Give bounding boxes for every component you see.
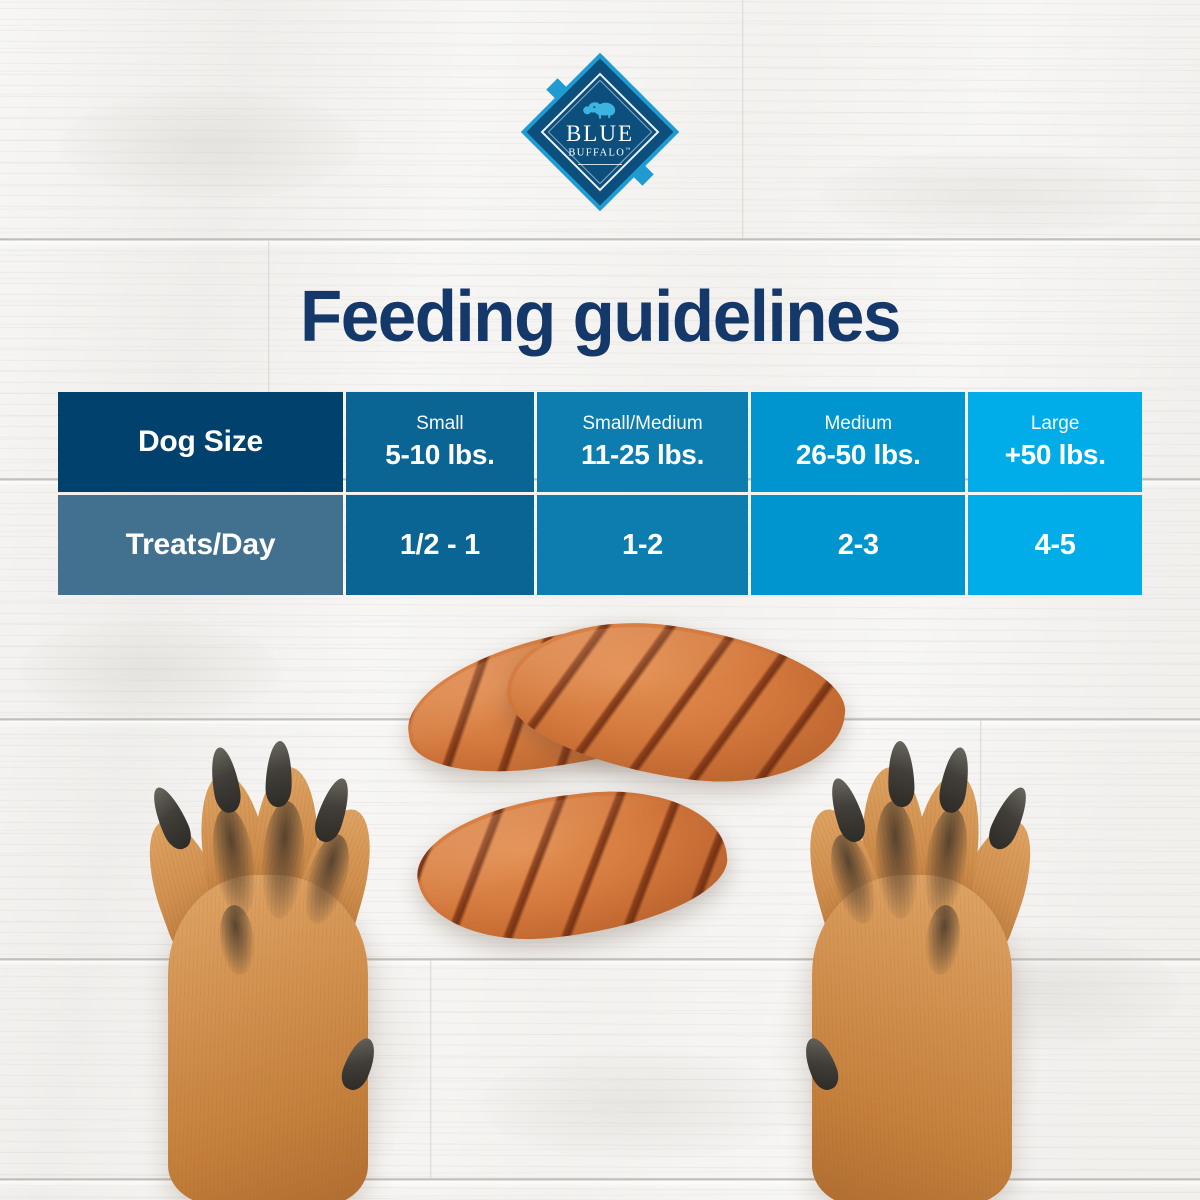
- cell-dog-size-small-medium: Small/Medium 11-25 lbs.: [537, 392, 748, 492]
- cell-treats-medium: 2-3: [751, 495, 965, 595]
- plank-joint: [430, 960, 432, 1178]
- cell-dog-size-large: Large +50 lbs.: [968, 392, 1142, 492]
- paw-claw: [887, 741, 915, 808]
- wood-grain-blotch: [60, 90, 360, 200]
- cell-label: Small/Medium: [582, 413, 702, 435]
- row-header-treats-per-day: Treats/Day: [58, 495, 343, 595]
- wood-grain-blotch: [820, 150, 1160, 240]
- cell-label: Small: [416, 413, 464, 435]
- cell-value: 11-25 lbs.: [581, 438, 704, 472]
- feeding-guidelines-table: Dog Size Small 5-10 lbs. Small/Medium 11…: [55, 389, 1145, 598]
- cell-value: +50 lbs.: [1005, 438, 1106, 472]
- wood-grain-blotch: [20, 620, 280, 720]
- cell-label: Large: [1031, 413, 1080, 435]
- cell-value: 5-10 lbs.: [385, 438, 494, 472]
- table-row: Treats/Day 1/2 - 1 1-2 2-3 4-5: [58, 495, 1142, 595]
- plank-joint: [742, 0, 744, 238]
- blue-buffalo-logo: BLUE BUFFALO™: [520, 52, 680, 212]
- cell-dog-size-small: Small 5-10 lbs.: [346, 392, 534, 492]
- table-row: Dog Size Small 5-10 lbs. Small/Medium 11…: [58, 392, 1142, 492]
- row-header-dog-size: Dog Size: [58, 392, 343, 492]
- paw-pad-leg: [812, 875, 1012, 1200]
- dog-paw-right: [760, 755, 1030, 1200]
- cell-treats-small: 1/2 - 1: [346, 495, 534, 595]
- paw-claw: [265, 741, 293, 808]
- paw-pad-leg: [168, 875, 368, 1200]
- cell-dog-size-medium: Medium 26-50 lbs.: [751, 392, 965, 492]
- cell-treats-large: 4-5: [968, 495, 1142, 595]
- wood-grain-blotch: [480, 1050, 800, 1160]
- dog-paw-left: [150, 755, 420, 1200]
- cell-treats-small-medium: 1-2: [537, 495, 748, 595]
- scene-background: BLUE BUFFALO™ Feeding guidelines Dog Siz…: [0, 0, 1200, 1200]
- treat-strip: [410, 777, 735, 954]
- page-title: Feeding guidelines: [24, 276, 1176, 358]
- cell-value: 26-50 lbs.: [796, 438, 921, 472]
- cell-label: Medium: [824, 413, 892, 435]
